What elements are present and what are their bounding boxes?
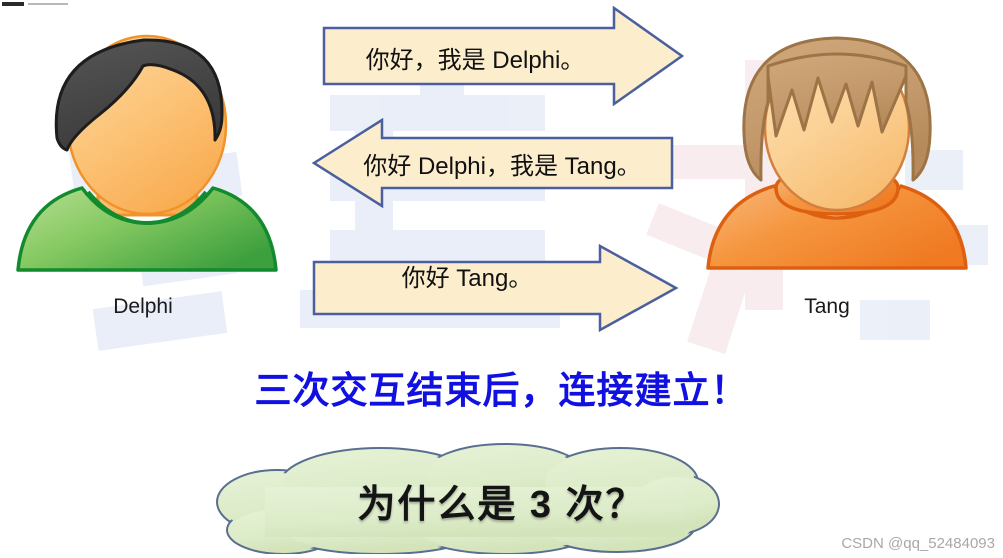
message-text-3: 你好 Tang。 <box>322 258 612 293</box>
top-left-dark-bar <box>2 2 24 6</box>
conclusion-headline: 三次交互结束后，连接建立！ <box>0 360 1003 414</box>
avatar-delphi <box>10 18 285 288</box>
avatar-tang <box>700 18 975 288</box>
slide-canvas: Delphi <box>0 0 1003 558</box>
top-left-light-bar <box>28 3 68 5</box>
question-cloud-text: 为什么是 3 次？ <box>0 473 1003 528</box>
avatar-label-delphi: Delphi <box>58 295 228 319</box>
message-text-2: 你好 Delphi，我是 Tang。 <box>352 146 652 181</box>
message-text-1: 你好，我是 Delphi。 <box>330 40 620 75</box>
avatar-label-tang: Tang <box>742 295 912 319</box>
csdn-credit: CSDN @qq_52484093 <box>841 535 995 552</box>
